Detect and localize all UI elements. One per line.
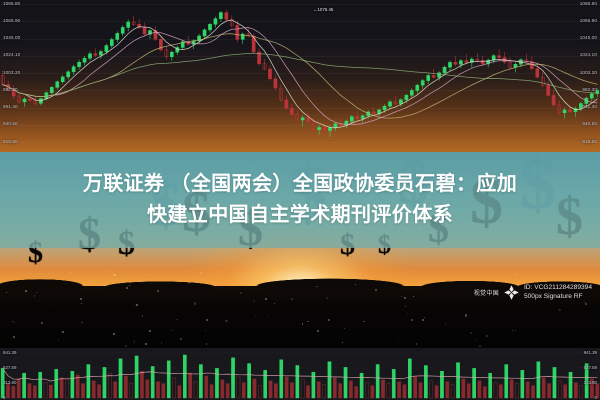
volume-axis-tick: 313.80 (584, 381, 597, 385)
price-axis-tick: 982.30 (582, 88, 597, 93)
sparkle (344, 328, 345, 329)
price-annotation: ←1076.45 (313, 8, 333, 12)
sparkle (188, 282, 190, 284)
volume-axis-tick: 0 (3, 396, 5, 400)
sparkle (58, 340, 59, 341)
sparkle (413, 296, 414, 297)
sparkle (342, 342, 343, 343)
watermark-text: ID: VCG211284289394 500px Signature RF (524, 284, 592, 302)
price-axis-tick: 982.30 (3, 88, 18, 93)
sparkle (515, 330, 516, 331)
sparkle (113, 274, 115, 276)
sparkle (52, 305, 53, 306)
price-axis-tick: 1003.20 (3, 71, 20, 76)
volume-chart-panel: 941.39627.59313.800 941.39627.59313.800 (0, 348, 600, 400)
sparkle (14, 322, 15, 323)
watermark-brand-cn: 视觉中国 (474, 288, 499, 297)
sparkle (407, 313, 408, 314)
volume-axis-tick: 0 (595, 396, 597, 400)
price-axis-tick: 1086.80 (3, 2, 20, 7)
sparkle (36, 292, 37, 293)
sparkle (194, 302, 196, 304)
headline-line-1: 万联证券 （全国两会）全国政协委员石碧：应加 (83, 169, 517, 200)
sparkle (470, 332, 472, 334)
sparkle (134, 305, 135, 306)
price-axis-tick: 1086.80 (580, 2, 597, 7)
sparkle (145, 343, 147, 345)
sparkle (291, 298, 293, 300)
news-card: 1086.801065.901045.001024.101003.20982.3… (0, 0, 600, 400)
watermark-license: 500px Signature RF (524, 293, 592, 302)
volume-axis-tick: 627.59 (3, 366, 16, 370)
price-axis-tick: 1045.00 (3, 36, 20, 41)
headline-band: 万联证券 （全国两会）全国政协委员石碧：应加 快建立中国自主学术期刊评价体系 (0, 152, 600, 248)
price-axis-tick: 919.60 (582, 140, 597, 145)
volume-axis-tick: 941.39 (3, 351, 16, 355)
sparkle (180, 338, 182, 340)
price-axis-tick: 919.60 (3, 140, 18, 145)
sparkle (486, 335, 488, 337)
volume-axis-tick: 941.39 (584, 351, 597, 355)
price-axis-tick: 1003.20 (580, 71, 597, 76)
watermark-id: ID: VCG211284289394 (524, 284, 592, 293)
price-axis-tick: 1045.00 (580, 36, 597, 41)
sparkle (316, 286, 317, 287)
sparkle (326, 297, 328, 299)
volume-axis-tick: 313.80 (3, 381, 16, 385)
price-axis-tick: 961.40 (3, 105, 18, 110)
candlestick-series (0, 0, 600, 152)
sparkle (205, 330, 206, 331)
price-chart-panel: 1086.801065.901045.001024.101003.20982.3… (0, 0, 600, 152)
price-axis-tick: 1024.10 (3, 53, 20, 58)
sparkle (512, 330, 513, 331)
volume-axis-tick: 627.59 (584, 366, 597, 370)
sparkle (404, 297, 406, 299)
sparkle (514, 274, 515, 275)
price-axis-tick: 961.40 (582, 105, 597, 110)
headline-line-2: 快建立中国自主学术期刊评价体系 (147, 200, 453, 231)
sparkle (465, 314, 467, 316)
price-axis-tick: 1065.90 (580, 19, 597, 24)
sparkle (253, 300, 255, 302)
sparkle (225, 320, 227, 322)
sparkle (81, 303, 82, 304)
sparkle (317, 330, 319, 332)
price-axis-tick: 940.50 (3, 122, 18, 127)
sparkle (144, 275, 145, 276)
sparkle (113, 333, 114, 334)
hero-photo: $$$$$$$$$$$$$$ 万联证券 （全国两会）全国政协委员石碧：应加 快建… (0, 152, 600, 348)
price-axis-tick: 1065.90 (3, 19, 20, 24)
price-axis-tick: 940.50 (582, 122, 597, 127)
sparkle (558, 309, 560, 311)
sparkle (422, 319, 424, 321)
vcg-pinwheel-icon (503, 284, 520, 301)
watermark: 视觉中国 ID: VCG211284289394 500px Signature… (474, 284, 592, 302)
sparkle (265, 298, 267, 300)
sparkle (401, 296, 402, 297)
sparkle (240, 292, 242, 294)
sparkle (25, 290, 27, 292)
sparkle (424, 317, 425, 318)
price-axis-tick: 1024.10 (580, 53, 597, 58)
volume-series (0, 348, 600, 400)
sparkle (149, 330, 151, 332)
